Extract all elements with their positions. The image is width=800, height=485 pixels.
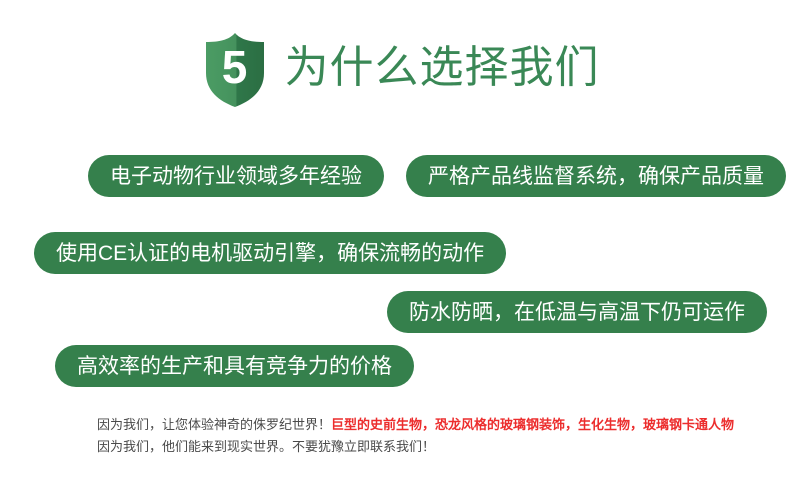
page-title: 为什么选择我们 [285, 46, 600, 94]
why-choose-us-banner: 5 为什么选择我们 电子动物行业领域多年经验 严格产品线监督系统，确保产品质量 … [0, 0, 800, 485]
feature-pill: 使用CE认证的电机驱动引擎，确保流畅的动作 [34, 232, 506, 274]
feature-pill: 防水防晒，在低温与高温下仍可运作 [387, 291, 767, 333]
badge-number: 5 [201, 31, 269, 109]
feature-pill: 电子动物行业领域多年经验 [88, 155, 384, 197]
feature-pill-list: 电子动物行业领域多年经验 严格产品线监督系统，确保产品质量 使用CE认证的电机驱… [0, 140, 800, 400]
feature-pill: 高效率的生产和具有竞争力的价格 [55, 345, 414, 387]
feature-pill: 严格产品线监督系统，确保产品质量 [406, 155, 786, 197]
footer-line-1-highlight: 巨型的史前生物，恐龙风格的玻璃钢装饰，生化生物，玻璃钢卡通人物 [331, 417, 734, 432]
footer-line-2: 因为我们，他们能来到现实世界。不要犹豫立即联系我们！ [97, 436, 757, 458]
badge-shield: 5 [201, 31, 269, 109]
footer-line-1: 因为我们，让您体验神奇的侏罗纪世界！巨型的史前生物，恐龙风格的玻璃钢装饰，生化生… [97, 414, 757, 436]
footer-text: 因为我们，让您体验神奇的侏罗纪世界！巨型的史前生物，恐龙风格的玻璃钢装饰，生化生… [97, 414, 757, 458]
header: 5 为什么选择我们 [0, 22, 800, 118]
footer-line-1-prefix: 因为我们，让您体验神奇的侏罗纪世界！ [97, 417, 331, 432]
